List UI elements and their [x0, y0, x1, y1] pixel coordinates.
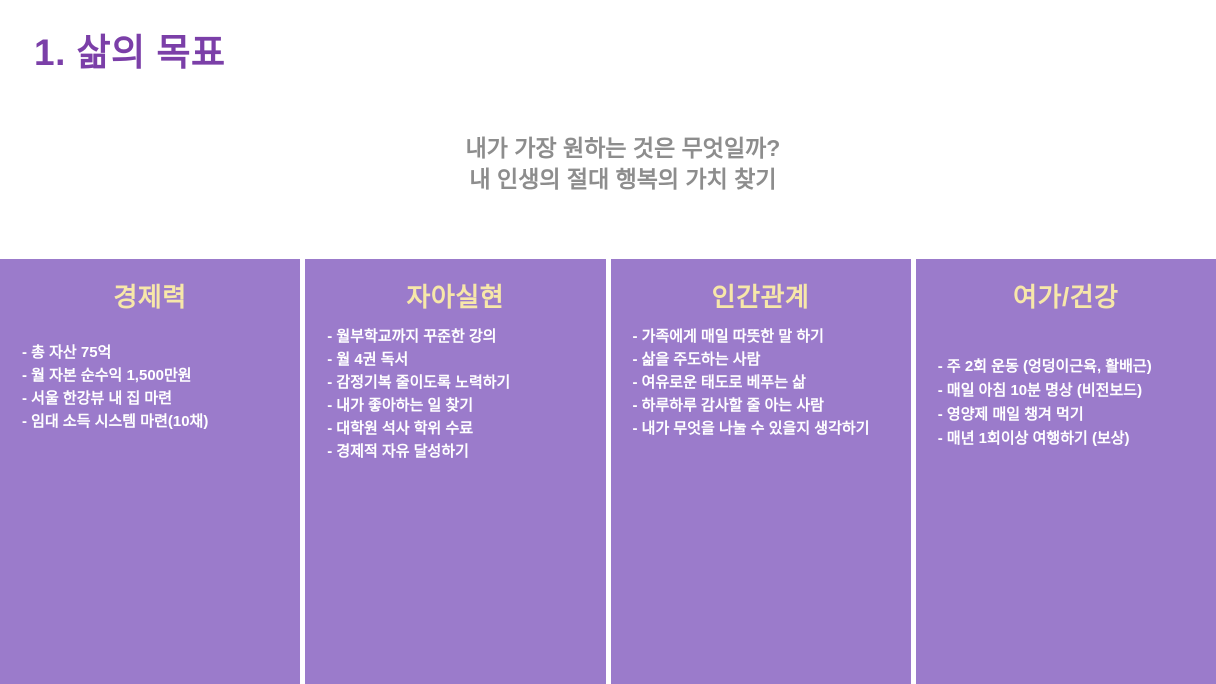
list-item: - 대학원 석사 학위 수료 — [327, 417, 605, 440]
column-heading: 자아실현 — [305, 281, 605, 313]
list-item: - 주 2회 운동 (엉덩이근육, 활배근) — [938, 355, 1216, 379]
list-item: - 매일 아침 10분 명상 (비전보드) — [938, 379, 1216, 403]
list-item: - 월 4권 독서 — [327, 348, 605, 371]
list-item: - 삶을 주도하는 사람 — [633, 348, 911, 371]
list-item: - 월 자본 순수익 1,500만원 — [22, 364, 300, 387]
column-bullet-list: - 가족에게 매일 따뜻한 말 하기 - 삶을 주도하는 사람 - 여유로운 태… — [633, 325, 911, 440]
list-item: - 내가 좋아하는 일 찾기 — [327, 394, 605, 417]
column-heading: 경제력 — [0, 281, 300, 313]
column-bullet-list: - 주 2회 운동 (엉덩이근육, 활배근) - 매일 아침 10분 명상 (비… — [938, 355, 1216, 451]
list-item: - 가족에게 매일 따뜻한 말 하기 — [633, 325, 911, 348]
list-item: - 하루하루 감사할 줄 아는 사람 — [633, 394, 911, 417]
goal-column-leisure-health[interactable]: 여가/건강 - 주 2회 운동 (엉덩이근육, 활배근) - 매일 아침 10분… — [916, 259, 1216, 684]
list-item: - 매년 1회이상 여행하기 (보상) — [938, 427, 1216, 451]
page-title: 1. 삶의 목표 — [34, 22, 226, 76]
column-bullet-list: - 총 자산 75억 - 월 자본 순수익 1,500만원 - 서울 한강뷰 내… — [22, 341, 300, 433]
subtitle-line-2: 내 인생의 절대 행복의 가치 찾기 — [30, 164, 1216, 195]
goal-column-relationships[interactable]: 인간관계 - 가족에게 매일 따뜻한 말 하기 - 삶을 주도하는 사람 - 여… — [611, 259, 911, 684]
list-item: - 영양제 매일 챙겨 먹기 — [938, 403, 1216, 427]
column-heading: 여가/건강 — [916, 281, 1216, 313]
list-item: - 월부학교까지 꾸준한 강의 — [327, 325, 605, 348]
list-item: - 여유로운 태도로 베푸는 삶 — [633, 371, 911, 394]
list-item: - 총 자산 75억 — [22, 341, 300, 364]
goal-columns: 경제력 - 총 자산 75억 - 월 자본 순수익 1,500만원 - 서울 한… — [0, 259, 1216, 684]
list-item: - 임대 소득 시스템 마련(10채) — [22, 410, 300, 433]
list-item: - 내가 무엇을 나눌 수 있을지 생각하기 — [633, 417, 883, 440]
list-item: - 경제적 자유 달성하기 — [327, 440, 605, 463]
slide-subtitle: 내가 가장 원하는 것은 무엇일까? 내 인생의 절대 행복의 가치 찾기 — [0, 133, 1216, 195]
goal-column-economy[interactable]: 경제력 - 총 자산 75억 - 월 자본 순수익 1,500만원 - 서울 한… — [0, 259, 300, 684]
list-item: - 서울 한강뷰 내 집 마련 — [22, 387, 300, 410]
goal-column-selfactualization[interactable]: 자아실현 - 월부학교까지 꾸준한 강의 - 월 4권 독서 - 감정기복 줄이… — [305, 259, 605, 684]
slide-canvas: 1. 삶의 목표 내가 가장 원하는 것은 무엇일까? 내 인생의 절대 행복의… — [0, 0, 1216, 684]
subtitle-line-1: 내가 가장 원하는 것은 무엇일까? — [30, 133, 1216, 164]
column-heading: 인간관계 — [611, 281, 911, 313]
list-item: - 감정기복 줄이도록 노력하기 — [327, 371, 605, 394]
column-bullet-list: - 월부학교까지 꾸준한 강의 - 월 4권 독서 - 감정기복 줄이도록 노력… — [327, 325, 605, 463]
